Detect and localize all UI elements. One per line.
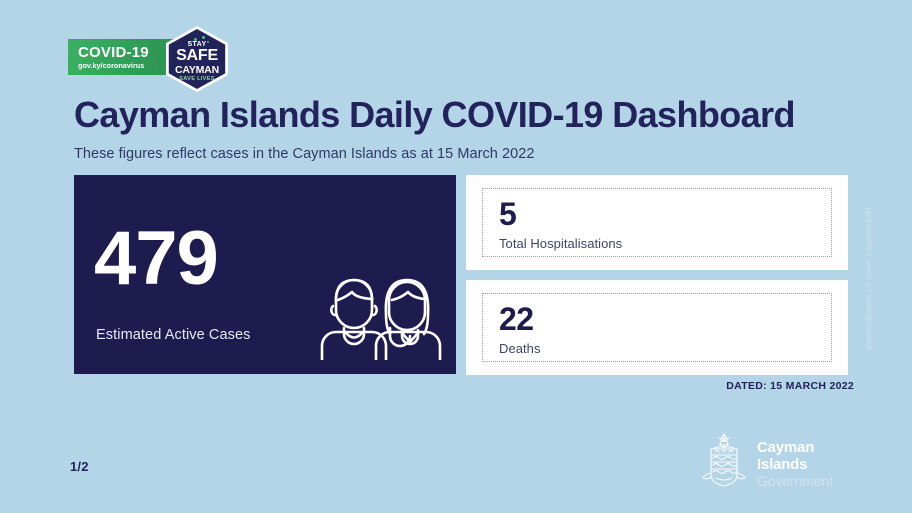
active-cases-label: Estimated Active Cases	[96, 327, 251, 343]
wordmark-line-2: Government	[757, 474, 850, 490]
wordmark-line-1: Cayman Islands	[757, 440, 850, 474]
deaths-card: 22 Deaths	[466, 280, 848, 375]
hospitalisations-label: Total Hospitalisations	[499, 236, 831, 251]
estimated-active-cases-panel: 479 Estimated Active Cases	[74, 175, 456, 374]
badge-line-safe: SAFE	[176, 48, 218, 64]
stay-safe-cayman-badge: STAY SAFE CAYMAN SAVE LIVES	[164, 26, 230, 92]
government-wordmark: Cayman Islands Government	[757, 440, 850, 489]
card-dotted-frame: 5 Total Hospitalisations	[482, 188, 832, 257]
badge-line-cayman: CAYMAN	[175, 65, 219, 76]
badge-text: STAY SAFE CAYMAN SAVE LIVES	[164, 26, 230, 92]
government-crest-icon	[700, 432, 748, 488]
logo-lockup: COVID-19 gov.ky/coronavirus STAY SAFE CA…	[68, 26, 228, 92]
dated-line: DATED: 15 MARCH 2022	[726, 380, 854, 392]
page-subtitle: These figures reflect cases in the Cayma…	[74, 146, 534, 162]
hospitalisations-value: 5	[499, 198, 831, 230]
page-number: 1/2	[70, 459, 89, 474]
card-dotted-frame: 22 Deaths	[482, 293, 832, 362]
two-people-icon	[314, 270, 444, 360]
badge-line-save-lives: SAVE LIVES	[179, 77, 215, 83]
deaths-value: 22	[499, 303, 831, 335]
page-title: Cayman Islands Daily COVID-19 Dashboard	[74, 96, 795, 134]
total-hospitalisations-card: 5 Total Hospitalisations	[466, 175, 848, 270]
cayman-islands-government-logo: Cayman Islands Government	[700, 432, 850, 488]
deaths-label: Deaths	[499, 341, 831, 356]
credit-text: graphics@gov.ky | © Crown Copyright 2021	[866, 210, 873, 350]
active-cases-value: 479	[94, 221, 218, 297]
